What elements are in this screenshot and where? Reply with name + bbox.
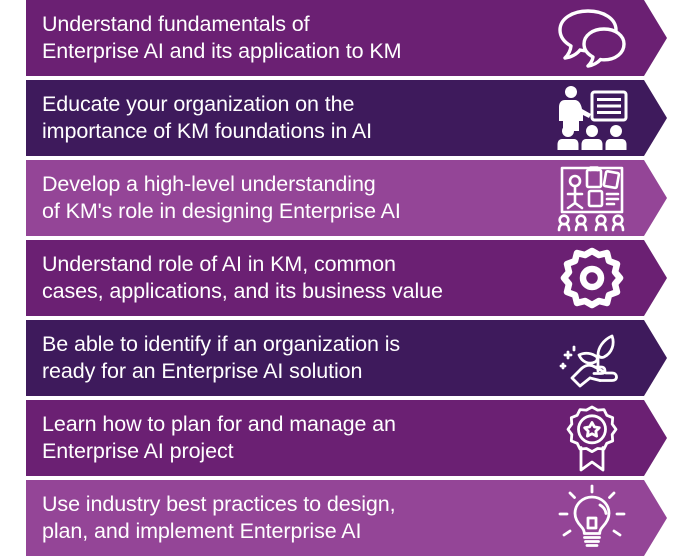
chevron-row: Be able to identify if an organization i… xyxy=(26,320,667,396)
chevron-row-label: Develop a high-level understanding of KM… xyxy=(42,171,532,225)
gear-icon xyxy=(554,244,630,312)
chevron-row: Understand fundamentals of Enterprise AI… xyxy=(26,0,667,76)
chevron-row: Understand role of AI in KM, common case… xyxy=(26,240,667,316)
chevron-row: Educate your organization on the importa… xyxy=(26,80,667,156)
presenter-audience-icon xyxy=(554,84,630,152)
chevron-row-label: Educate your organization on the importa… xyxy=(42,91,532,145)
chevron-row: Learn how to plan for and manage an Ente… xyxy=(26,400,667,476)
chevron-row-label: Learn how to plan for and manage an Ente… xyxy=(42,411,532,465)
chevron-row-label: Understand fundamentals of Enterprise AI… xyxy=(42,11,532,65)
chevron-row-label: Be able to identify if an organization i… xyxy=(42,331,532,385)
speech-bubbles-icon xyxy=(554,4,630,72)
hand-sprout-icon xyxy=(554,324,630,392)
whiteboard-planning-icon xyxy=(554,164,630,232)
award-ribbon-icon xyxy=(554,404,630,472)
chevron-row: Use industry best practices to design, p… xyxy=(26,480,667,556)
chevron-row: Develop a high-level understanding of KM… xyxy=(26,160,667,236)
chevron-row-label: Understand role of AI in KM, common case… xyxy=(42,251,532,305)
lightbulb-icon xyxy=(554,484,630,552)
chevron-infographic: Understand fundamentals of Enterprise AI… xyxy=(0,0,689,560)
chevron-row-label: Use industry best practices to design, p… xyxy=(42,491,532,545)
